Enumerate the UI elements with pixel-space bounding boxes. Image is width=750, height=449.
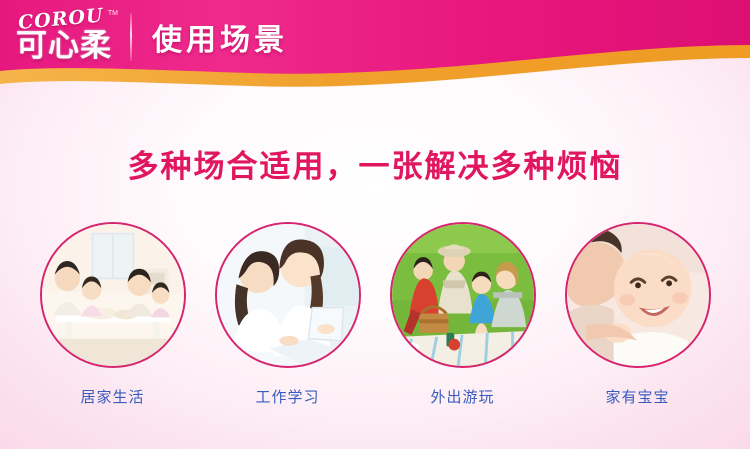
brand-logo: COROU TM 可心柔 — [14, 6, 114, 68]
banner-header: COROU TM 可心柔 使用场景 — [0, 0, 750, 100]
brand-chinese-name: 可心柔 — [14, 26, 114, 66]
header-divider — [130, 13, 132, 61]
scenario-card-work-study: 工作学习 — [214, 222, 362, 407]
scenario-card-outdoor-trip: 外出游玩 — [389, 222, 537, 407]
scenario-caption-work-study: 工作学习 — [255, 386, 319, 407]
photo-circle-home-life — [40, 222, 186, 368]
photo-family-dining — [42, 224, 184, 366]
trademark-symbol: TM — [108, 10, 118, 17]
scenario-card-baby: 家有宝宝 — [564, 222, 712, 407]
promo-banner: COROU TM 可心柔 使用场景 多种场合适用，一张解决多种烦恼 — [0, 0, 750, 449]
scenario-caption-baby: 家有宝宝 — [605, 386, 669, 407]
scenario-caption-home-life: 居家生活 — [80, 386, 144, 407]
header-content: COROU TM 可心柔 使用场景 — [0, 0, 750, 74]
photo-women-with-laptop — [217, 224, 359, 366]
header-title: 使用场景 — [152, 15, 288, 59]
photo-circle-work-study — [215, 222, 361, 368]
photo-mother-and-baby — [567, 224, 709, 366]
photo-family-picnic — [392, 224, 534, 366]
photo-circle-baby — [565, 222, 711, 368]
headline-text: 多种场合适用，一张解决多种烦恼 — [0, 141, 750, 186]
scenario-caption-outdoor-trip: 外出游玩 — [430, 386, 494, 407]
scenario-card-row: 居家生活 — [0, 222, 750, 407]
photo-circle-outdoor-trip — [390, 222, 536, 368]
scenario-card-home-life: 居家生活 — [39, 222, 187, 407]
